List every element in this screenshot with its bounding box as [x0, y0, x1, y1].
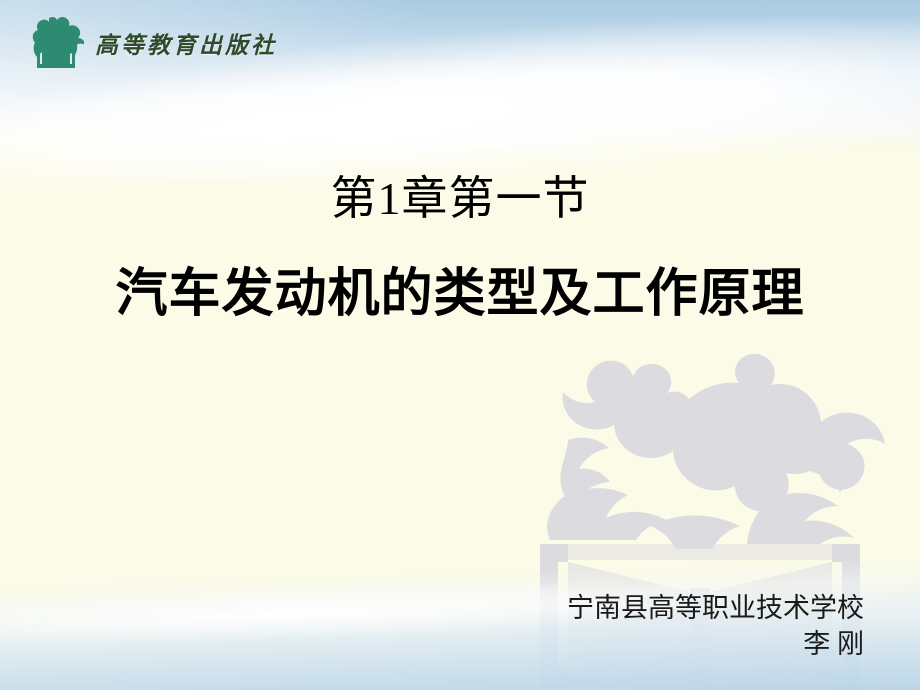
presentation-slide: 高等教育出版社 第1章第一节 汽车发动机的类型及工作原理 宁南县高等职业技术学校…: [0, 0, 920, 690]
school-name: 宁南县高等职业技术学校: [567, 590, 864, 626]
page-title: 汽车发动机的类型及工作原理: [0, 260, 920, 330]
chapter-section-title: 第1章第一节: [0, 168, 920, 230]
press-logo-icon: [28, 14, 84, 68]
author-name: 李 刚: [567, 626, 864, 662]
slide-title-block: 第1章第一节 汽车发动机的类型及工作原理: [0, 168, 920, 330]
publisher-name-text: 高等教育出版社: [95, 26, 277, 60]
author-block: 宁南县高等职业技术学校 李 刚: [567, 590, 864, 662]
